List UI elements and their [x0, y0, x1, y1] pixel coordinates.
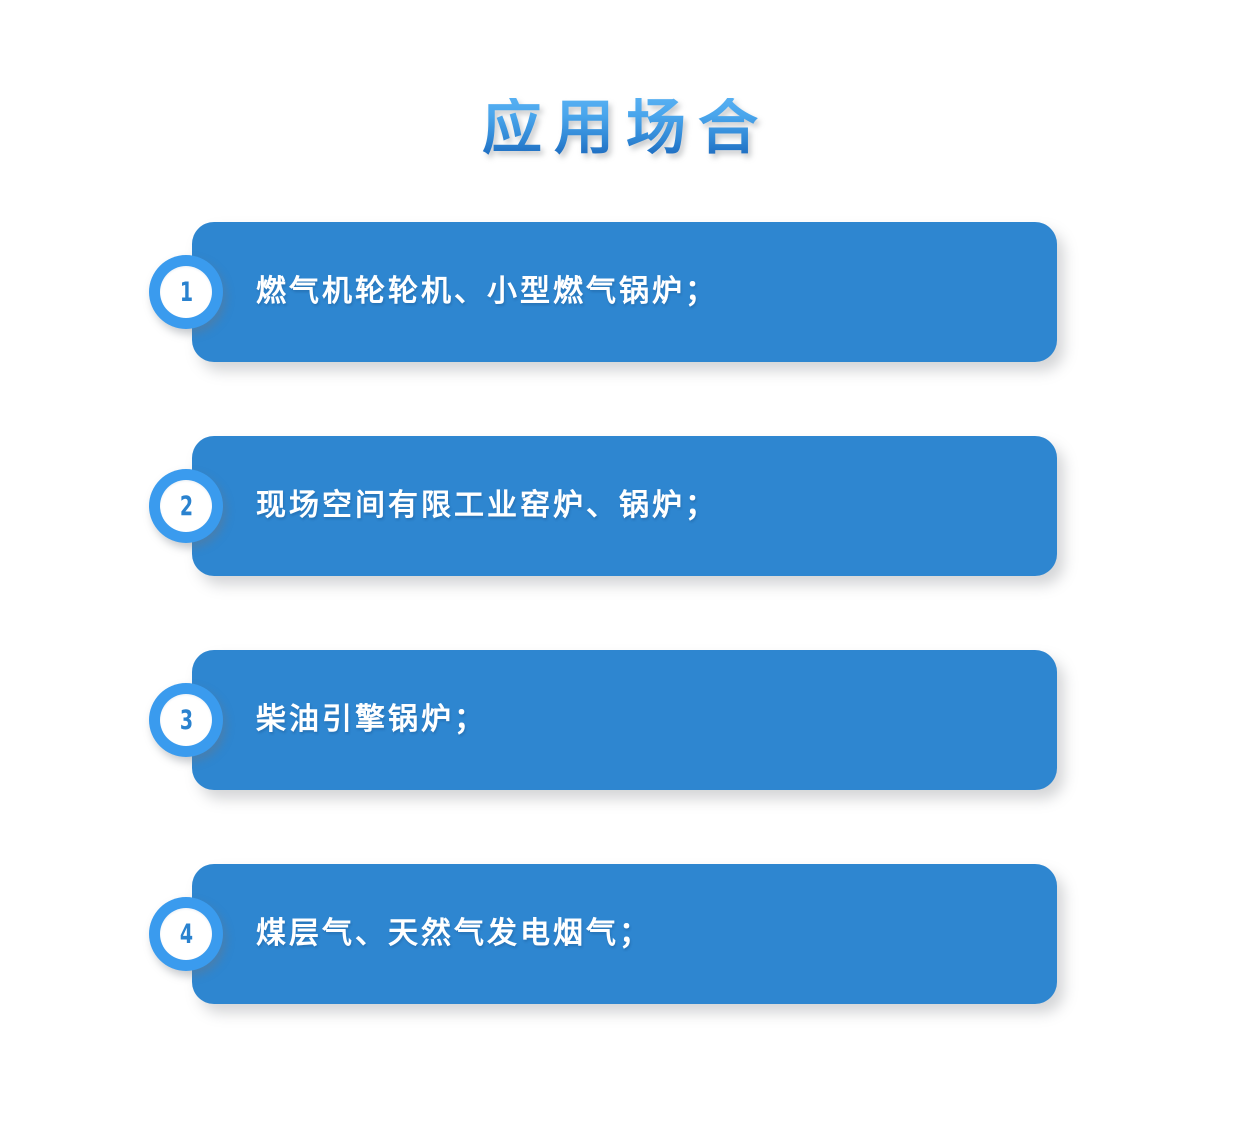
scenario-card-text: 燃气机轮轮机、小型燃气锅炉； [256, 273, 718, 311]
scenario-card-body[interactable]: 燃气机轮轮机、小型燃气锅炉； [192, 222, 1057, 362]
scenario-card-body[interactable]: 柴油引擎锅炉； [192, 650, 1057, 790]
badge-number: 3 [179, 707, 192, 734]
badge-inner-circle: 2 [160, 480, 212, 532]
scenario-card[interactable]: 煤层气、天然气发电烟气； 4 [0, 864, 1240, 1004]
application-scenarios-page: 应用场合 燃气机轮轮机、小型燃气锅炉； 1 现场空间有限工业窑炉、锅炉； 2 [0, 0, 1240, 1131]
scenario-card-body[interactable]: 煤层气、天然气发电烟气； [192, 864, 1057, 1004]
scenario-number-badge: 4 [149, 897, 223, 971]
scenario-card[interactable]: 燃气机轮轮机、小型燃气锅炉； 1 [0, 222, 1240, 362]
scenario-card-body[interactable]: 现场空间有限工业窑炉、锅炉； [192, 436, 1057, 576]
scenario-card-list: 燃气机轮轮机、小型燃气锅炉； 1 现场空间有限工业窑炉、锅炉； 2 柴油引擎锅炉 [0, 222, 1240, 1004]
scenario-number-badge: 2 [149, 469, 223, 543]
badge-number: 1 [179, 279, 192, 306]
scenario-card-text: 柴油引擎锅炉； [256, 701, 487, 739]
scenario-number-badge: 1 [149, 255, 223, 329]
scenario-number-badge: 3 [149, 683, 223, 757]
scenario-card[interactable]: 柴油引擎锅炉； 3 [0, 650, 1240, 790]
scenario-card-text: 煤层气、天然气发电烟气； [256, 915, 652, 953]
scenario-card[interactable]: 现场空间有限工业窑炉、锅炉； 2 [0, 436, 1240, 576]
page-title: 应用场合 [0, 98, 1240, 158]
badge-inner-circle: 4 [160, 908, 212, 960]
scenario-card-text: 现场空间有限工业窑炉、锅炉； [256, 487, 718, 525]
badge-number: 4 [179, 921, 192, 948]
badge-inner-circle: 1 [160, 266, 212, 318]
badge-inner-circle: 3 [160, 694, 212, 746]
badge-number: 2 [179, 493, 192, 520]
